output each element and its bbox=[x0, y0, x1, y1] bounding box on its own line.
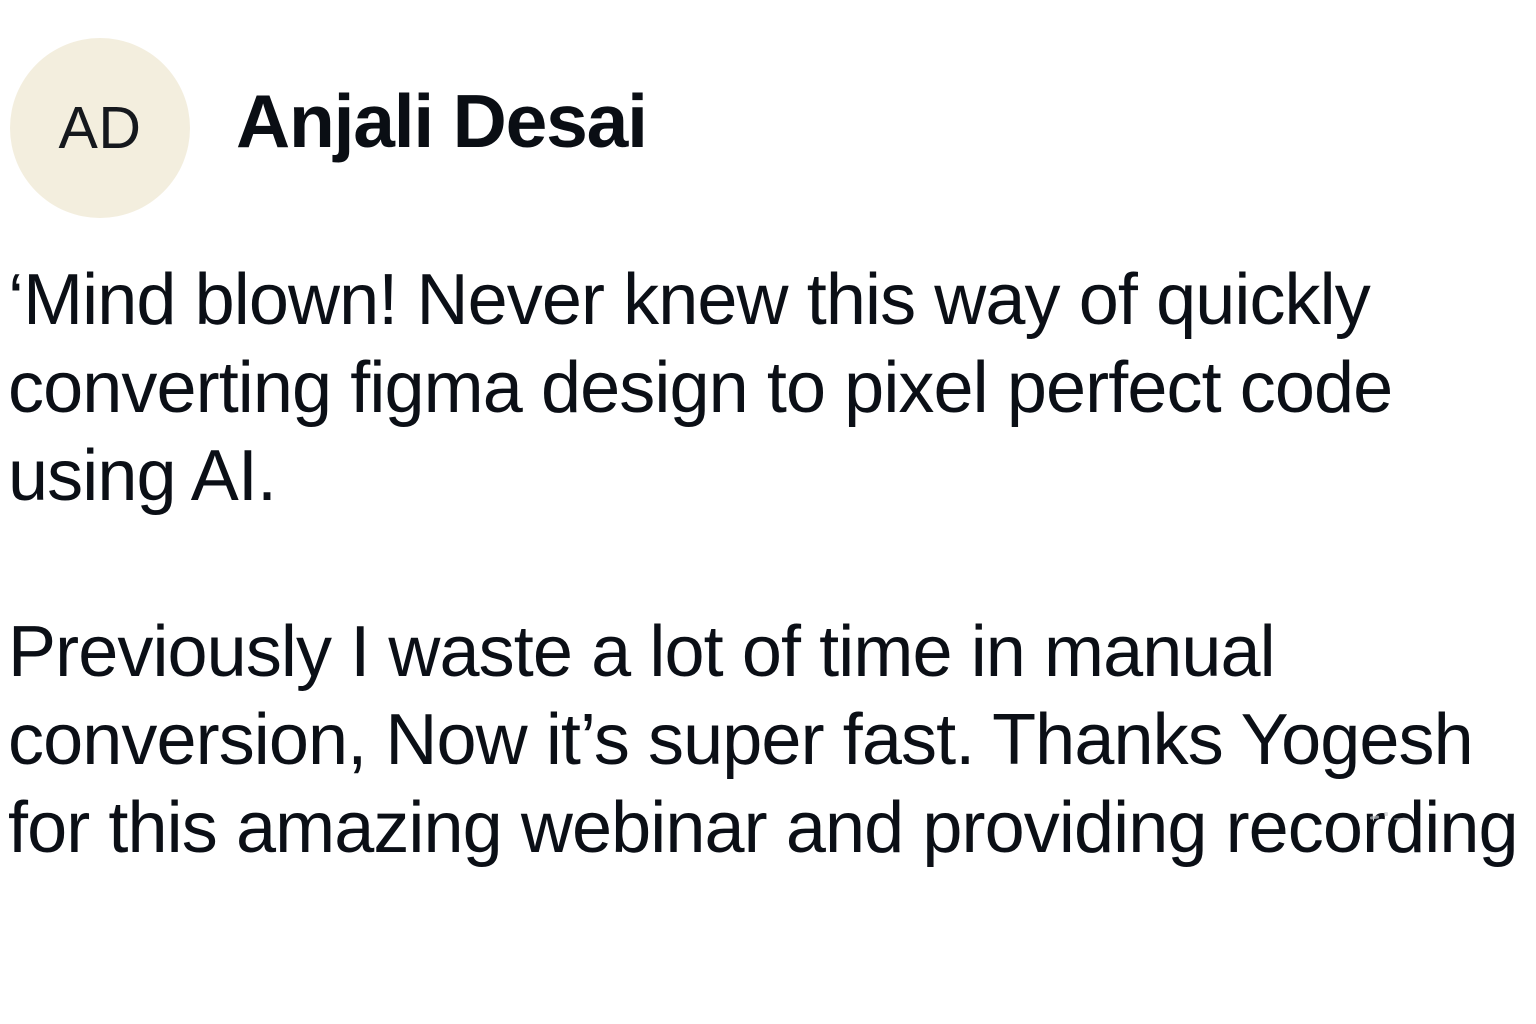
post-paragraph-1: ‘Mind blown! Never knew this way of quic… bbox=[8, 256, 1518, 520]
post-body: ‘Mind blown! Never knew this way of quic… bbox=[8, 256, 1518, 872]
post-header: AD Anjali Desai bbox=[0, 0, 1536, 232]
post-paragraph-2: Previously I waste a lot of time in manu… bbox=[8, 608, 1518, 872]
testimonial-post: AD Anjali Desai ‘Mind blown! Never knew … bbox=[0, 0, 1536, 1024]
author-name: Anjali Desai bbox=[236, 82, 647, 162]
avatar-initials: AD bbox=[59, 99, 142, 158]
avatar: AD bbox=[10, 38, 190, 218]
